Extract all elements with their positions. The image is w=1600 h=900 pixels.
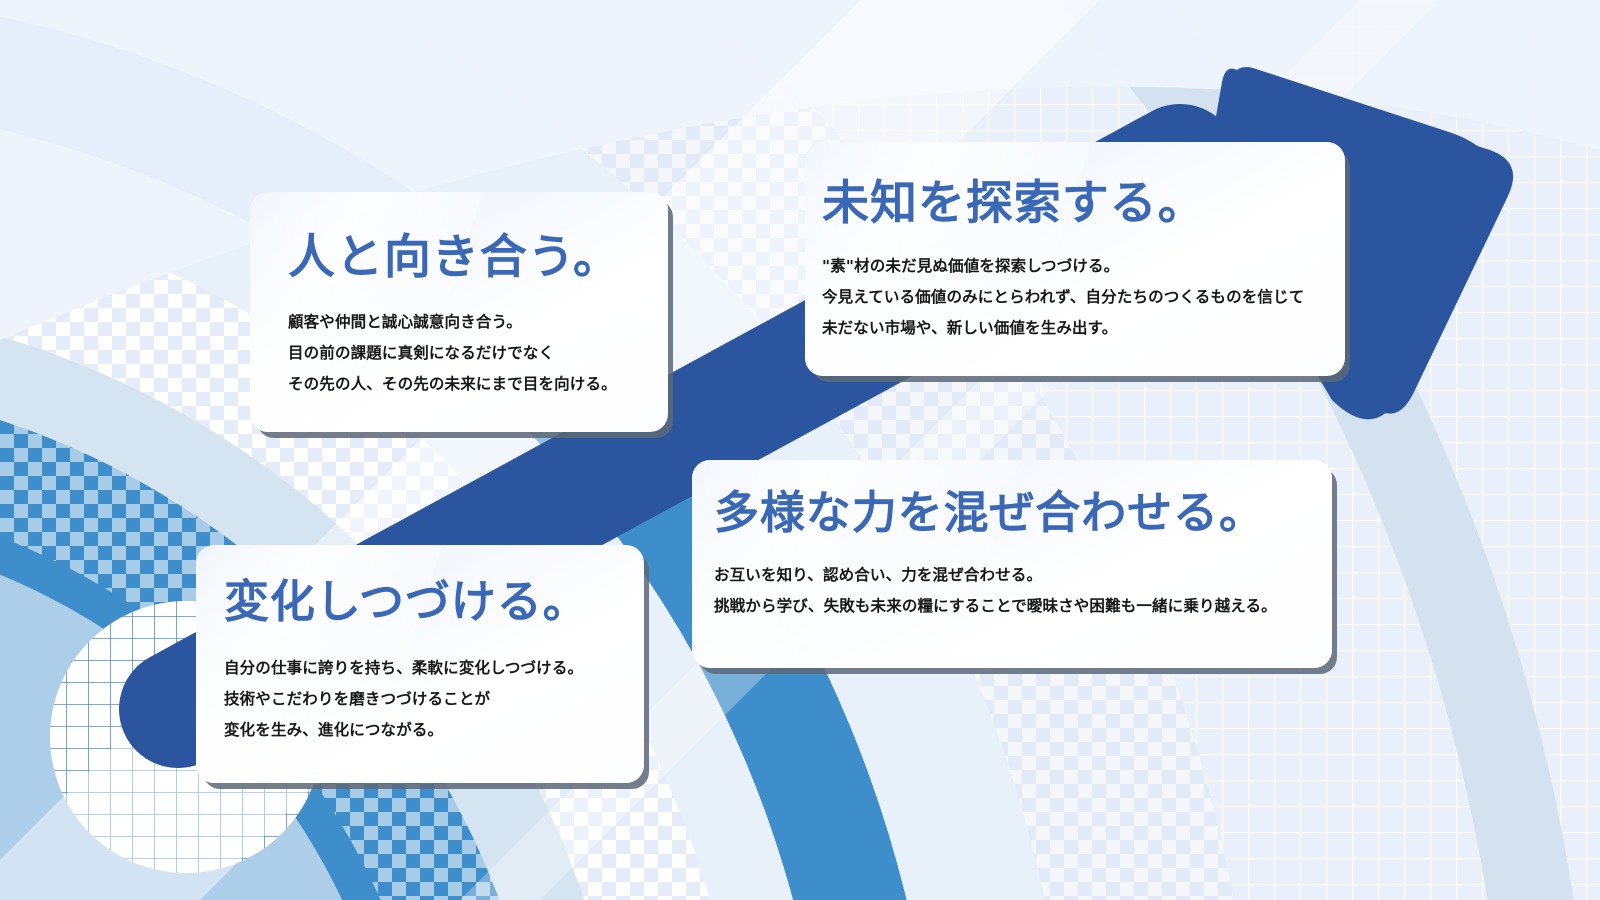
value-card-line: "素"材の未だ見ぬ価値を探索しつづける。: [822, 251, 1345, 282]
value-card-line: 顧客や仲間と誠心誠意向き合う。: [288, 307, 668, 338]
value-card-title: 変化しつづける。: [224, 577, 644, 627]
value-card-title: 人と向き合う。: [288, 232, 668, 285]
value-card-line: 挑戦から学び、失敗も未来の糧にすることで曖昧さや困難も一緒に乗り越える。: [714, 591, 1332, 622]
value-card-body: お互いを知り、認め合い、力を混ぜ合わせる。 挑戦から学び、失敗も未来の糧にするこ…: [714, 560, 1332, 622]
value-card-michi[interactable]: 未知を探索する。 "素"材の未だ見ぬ価値を探索しつづける。 今見えている価値のみ…: [805, 142, 1345, 376]
value-card-body: 顧客や仲間と誠心誠意向き合う。 目の前の課題に真剣になるだけでなく その先の人、…: [288, 307, 668, 400]
value-card-body: "素"材の未だ見ぬ価値を探索しつづける。 今見えている価値のみにとらわれず、自分…: [822, 251, 1345, 344]
value-card-line: お互いを知り、認め合い、力を混ぜ合わせる。: [714, 560, 1332, 591]
value-card-line: 技術やこだわりを磨きつづけることが: [224, 684, 644, 715]
value-card-line: 今見えている価値のみにとらわれず、自分たちのつくるものを信じて: [822, 282, 1345, 313]
value-card-line: 変化を生み、進化につながる。: [224, 715, 644, 746]
value-card-line: 目の前の課題に真剣になるだけでなく: [288, 338, 668, 369]
value-card-tayou[interactable]: 多様な力を混ぜ合わせる。 お互いを知り、認め合い、力を混ぜ合わせる。 挑戦から学…: [692, 460, 1332, 668]
value-card-title: 多様な力を混ぜ合わせる。: [714, 488, 1332, 538]
value-card-hito[interactable]: 人と向き合う。 顧客や仲間と誠心誠意向き合う。 目の前の課題に真剣になるだけでな…: [250, 192, 668, 432]
value-card-henka[interactable]: 変化しつづける。 自分の仕事に誇りを持ち、柔軟に変化しつづける。 技術やこだわり…: [196, 545, 644, 783]
poster-canvas: 人と向き合う。 顧客や仲間と誠心誠意向き合う。 目の前の課題に真剣になるだけでな…: [0, 0, 1600, 900]
value-card-title: 未知を探索する。: [822, 178, 1345, 231]
value-card-line: 自分の仕事に誇りを持ち、柔軟に変化しつづける。: [224, 653, 644, 684]
value-card-line: 未だない市場や、新しい価値を生み出す。: [822, 313, 1345, 344]
value-card-line: その先の人、その先の未来にまで目を向ける。: [288, 369, 668, 400]
value-card-body: 自分の仕事に誇りを持ち、柔軟に変化しつづける。 技術やこだわりを磨きつづけること…: [224, 653, 644, 746]
